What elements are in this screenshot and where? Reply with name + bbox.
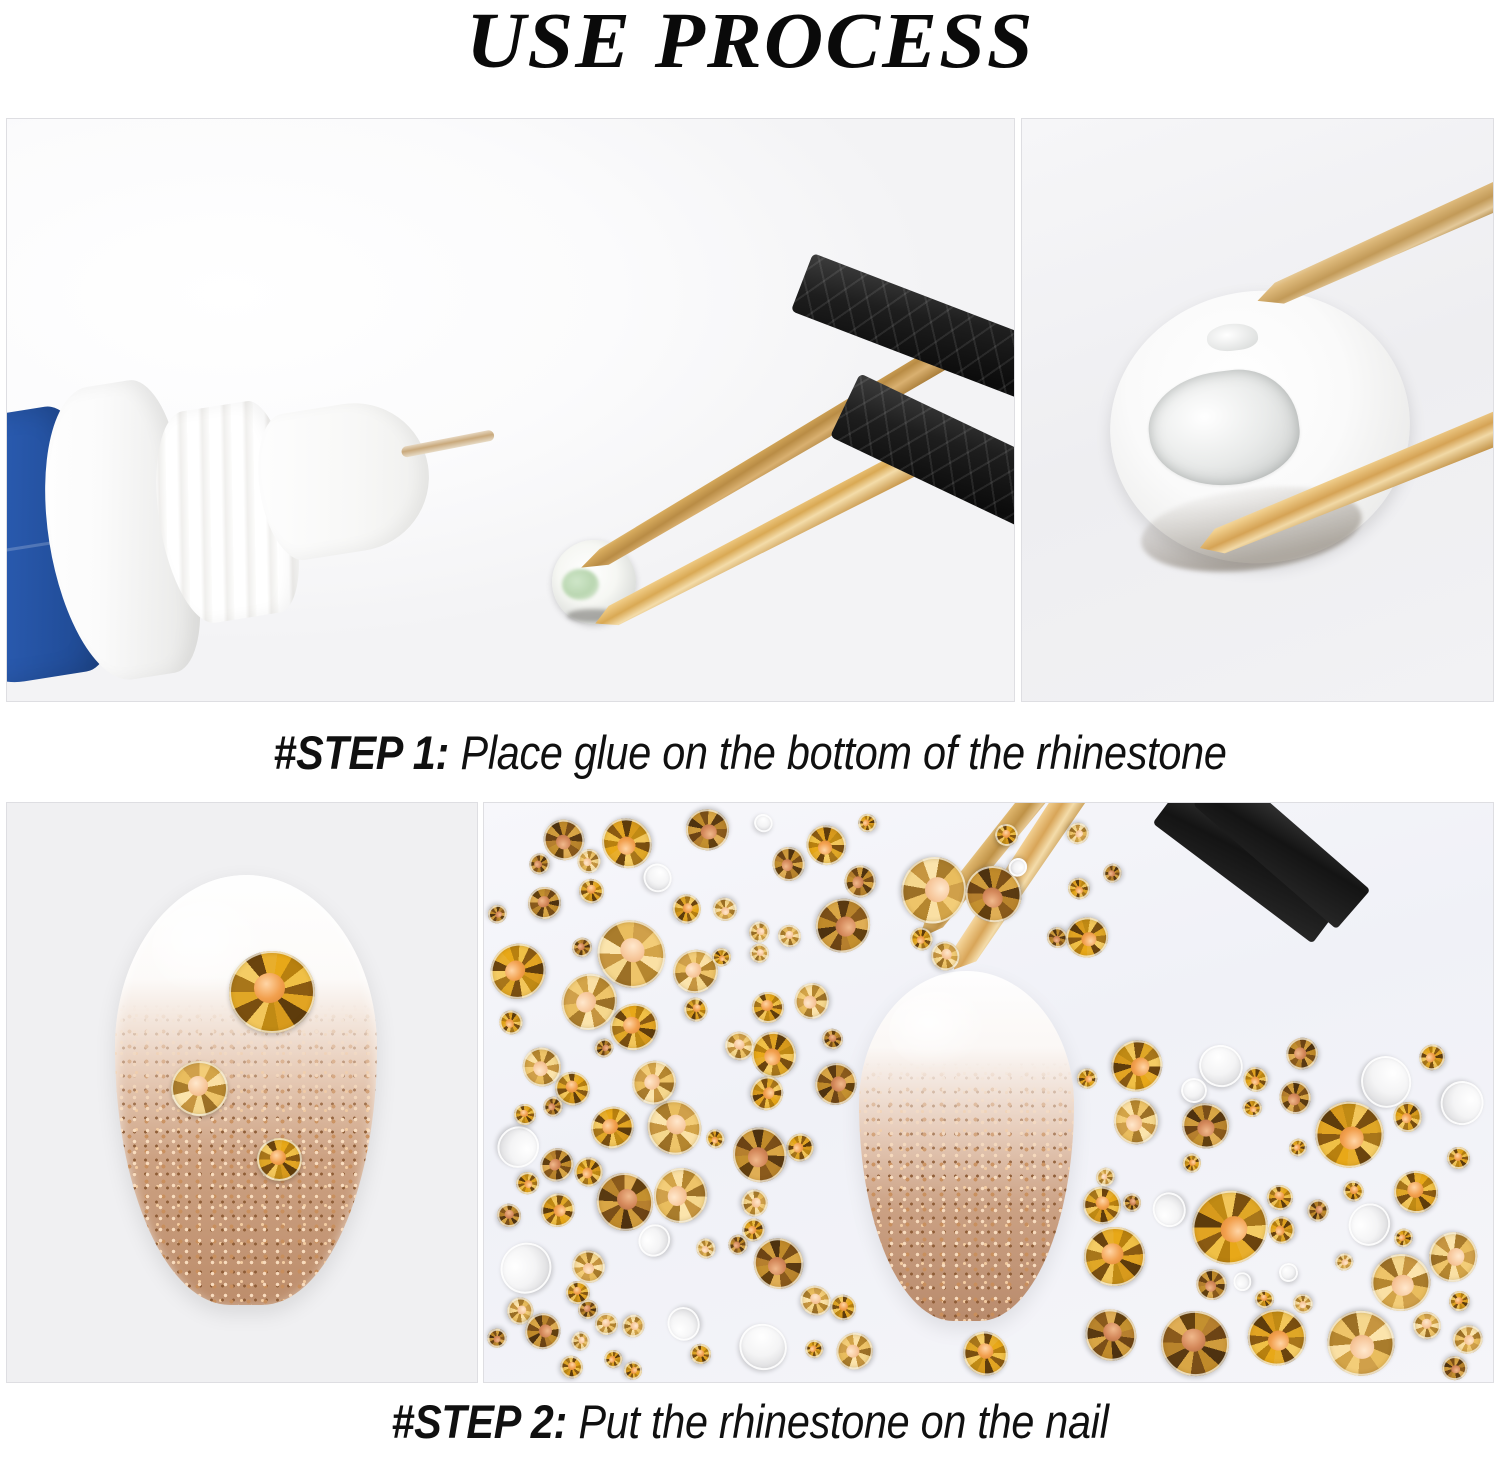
nail-rhinestone-medium xyxy=(171,1061,228,1116)
step-2-text: Put the rhinestone on the nail xyxy=(578,1394,1108,1449)
glue-bead xyxy=(1143,363,1306,495)
glue-bottle-tweezers-photo xyxy=(6,118,1015,702)
nail-highlight xyxy=(889,992,988,1069)
rhinestone-rim xyxy=(229,951,315,1033)
step-1-caption: #STEP 1: Place glue on the bottom of the… xyxy=(90,702,1410,802)
rhinestone-scatter-photo xyxy=(483,802,1494,1383)
nail-rhinestone-large xyxy=(229,951,315,1033)
glued-rhinestone-closeup-photo xyxy=(1021,118,1494,702)
nail-rhinestone-small xyxy=(257,1138,302,1181)
loose-rhinestone xyxy=(578,849,601,873)
rhinestone-rim xyxy=(1232,1272,1251,1291)
step-2-image-row xyxy=(0,802,1500,1383)
rhinestone-rim xyxy=(257,1138,302,1181)
step-1-text: Place glue on the bottom of the rhinesto… xyxy=(460,725,1226,780)
rhinestone-rim xyxy=(171,1061,228,1116)
glue-bottle-neck xyxy=(249,392,440,565)
step-2-caption: #STEP 2: Put the rhinestone on the nail xyxy=(90,1383,1410,1466)
nail-tip xyxy=(115,875,377,1305)
nail-tip xyxy=(859,971,1074,1321)
page-title: USE PROCESS xyxy=(466,0,1035,81)
nail-glitter-gradient xyxy=(115,1004,377,1305)
step-1-label: #STEP 1: xyxy=(273,725,449,780)
nail-glitter-gradient xyxy=(859,1062,1074,1321)
decorated-nail-photo xyxy=(6,802,478,1383)
header: USE PROCESS xyxy=(0,0,1500,118)
step-1-image-row xyxy=(0,118,1500,702)
rhinestone-flat-back xyxy=(1232,1272,1251,1291)
step-2-label: #STEP 2: xyxy=(391,1394,567,1449)
glue-bubble xyxy=(1205,321,1259,354)
rhinestone-rim xyxy=(578,849,601,873)
